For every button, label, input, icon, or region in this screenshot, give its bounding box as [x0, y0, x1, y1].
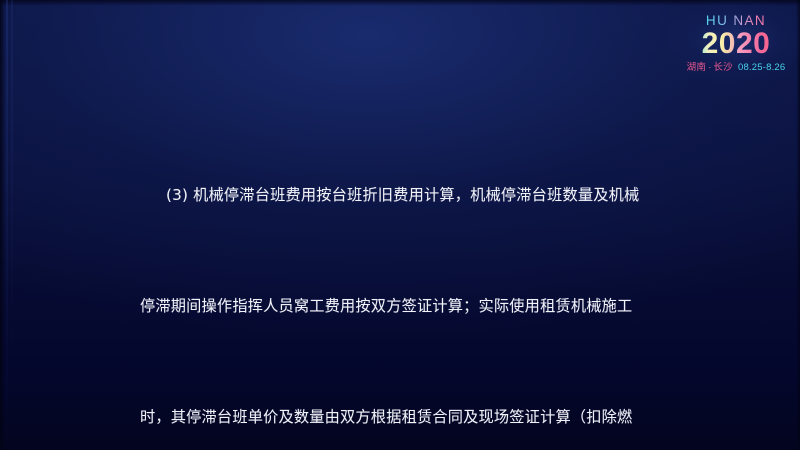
logo-city: 长沙 — [713, 62, 733, 73]
left-light-band-2 — [11, 0, 13, 450]
body-line-3: 时，其停滞台班单价及数量由双方根据租赁合同及现场签证计算（扣除燃 — [140, 399, 640, 436]
slide-body-text: (3) 机械停滞台班费用按台班折旧费用计算，机械停滞台班数量及机械 停滞期间操作… — [140, 103, 640, 450]
presentation-slide: HU NAN 2020 湖南·长沙08.25-8.26 (3) 机械停滞台班费用… — [0, 0, 800, 450]
event-logo: HU NAN 2020 湖南·长沙08.25-8.26 — [676, 4, 796, 76]
left-light-band-1 — [6, 0, 8, 450]
left-edge-shadow — [0, 0, 5, 450]
logo-year: 2020 — [676, 28, 796, 59]
logo-separator: · — [708, 62, 711, 73]
body-line-1: (3) 机械停滞台班费用按台班折旧费用计算，机械停滞台班数量及机械 — [140, 177, 640, 214]
logo-subtitle: 湖南·长沙08.25-8.26 — [676, 61, 796, 74]
logo-province: 湖南 — [687, 62, 707, 73]
logo-inner: HU NAN 2020 湖南·长沙08.25-8.26 — [676, 13, 796, 74]
logo-dates: 08.25-8.26 — [738, 62, 785, 73]
right-edge-shadow — [796, 0, 800, 450]
body-line-2: 停滞期间操作指挥人员窝工费用按双方签证计算；实际使用租赁机械施工 — [140, 288, 640, 325]
